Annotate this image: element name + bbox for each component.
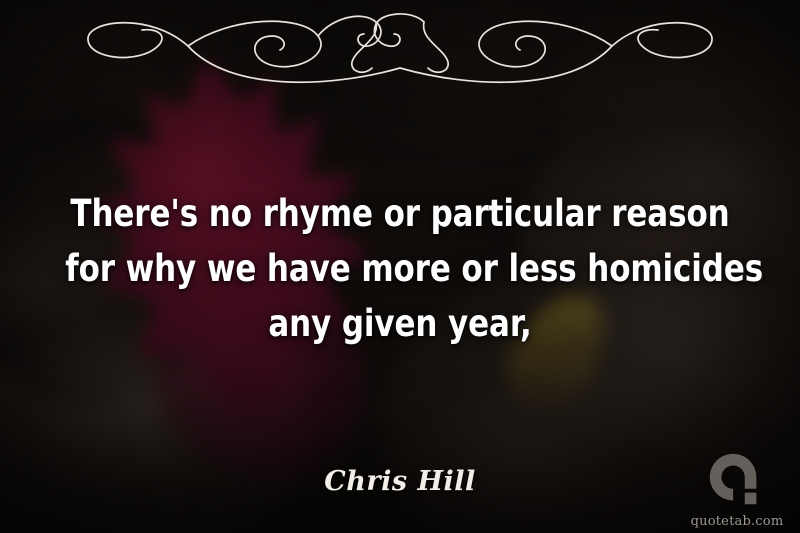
quotetab-q-logo-icon[interactable] [706,450,768,512]
quote-line: for why we have more or less homicides [65,241,735,296]
watermark-site-label: quotetab.com [682,514,792,529]
card-content: There's no rhyme or particular reason fo… [0,0,800,533]
quote-image-card: There's no rhyme or particular reason fo… [0,0,800,533]
flourish-ornament-icon [80,6,720,92]
quote-line: any given year, [65,296,735,351]
quote-text: There's no rhyme or particular reason fo… [65,186,735,351]
quote-line: There's no rhyme or particular reason [65,186,735,241]
watermark[interactable]: quotetab.com [682,450,792,529]
author-name: Chris Hill [0,466,800,497]
